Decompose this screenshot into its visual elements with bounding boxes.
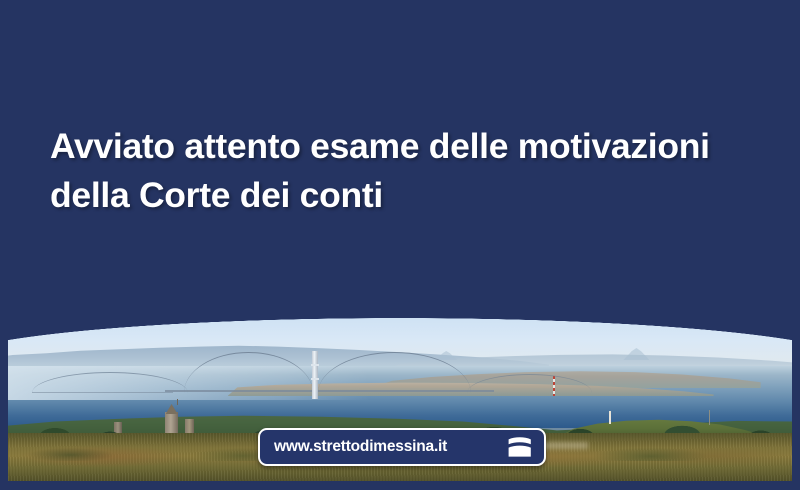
website-url-text: www.strettodimessina.it bbox=[274, 438, 447, 456]
bridge-tower bbox=[312, 351, 318, 399]
bridge-deck bbox=[165, 390, 494, 392]
website-url-banner[interactable]: www.strettodimessina.it bbox=[258, 428, 546, 466]
page-title: Avviato attento esame delle motivazioni … bbox=[50, 122, 760, 220]
bridge-logo-icon bbox=[506, 436, 533, 459]
social-card: Avviato attento esame delle motivazioni … bbox=[0, 0, 800, 490]
bridge-deck-approach bbox=[32, 392, 173, 393]
stone-tower-spire bbox=[177, 399, 178, 405]
